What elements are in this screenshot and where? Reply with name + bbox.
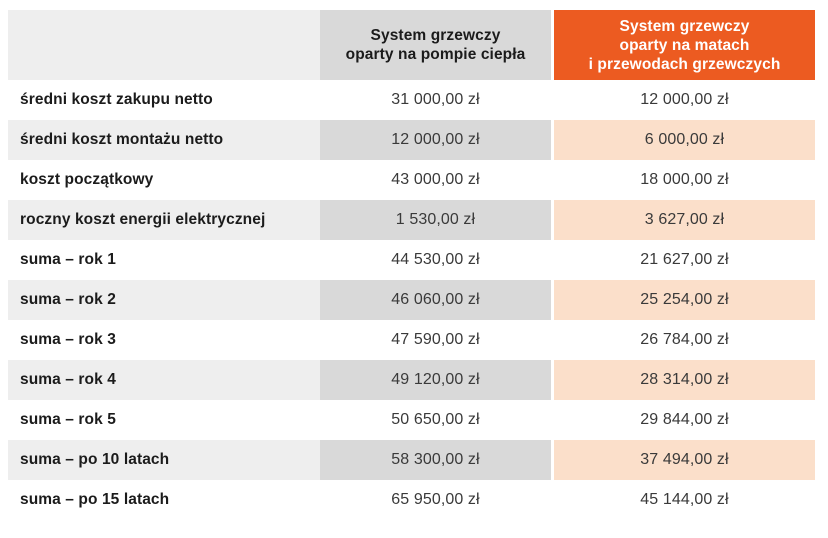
row-label-cell: suma – rok 1 xyxy=(0,240,320,280)
table-header: System grzewczy oparty na pompie ciepła … xyxy=(0,0,828,80)
header-heat-pump-line-1: System grzewczy xyxy=(346,26,526,45)
table-row: suma – rok 550 650,00 zł29 844,00 zł xyxy=(0,400,828,440)
row-label-cell: suma – rok 2 xyxy=(0,280,320,320)
heat-pump-value: 12 000,00 zł xyxy=(320,120,551,160)
heating-mats-value: 26 784,00 zł xyxy=(554,320,815,360)
row-label: suma – rok 2 xyxy=(8,280,320,320)
table-row: suma – rok 347 590,00 zł26 784,00 zł xyxy=(0,320,828,360)
heat-pump-value-cell: 46 060,00 zł xyxy=(320,280,554,320)
heating-mats-value: 3 627,00 zł xyxy=(554,200,815,240)
row-label: koszt początkowy xyxy=(8,160,320,200)
table-row: średni koszt zakupu netto31 000,00 zł12 … xyxy=(0,80,828,120)
row-label-cell: suma – po 15 latach xyxy=(0,480,320,520)
heat-pump-value: 1 530,00 zł xyxy=(320,200,551,240)
heating-mats-value-cell: 6 000,00 zł xyxy=(554,120,828,160)
row-label-cell: średni koszt zakupu netto xyxy=(0,80,320,120)
heat-pump-value-cell: 31 000,00 zł xyxy=(320,80,554,120)
row-label-cell: suma – rok 4 xyxy=(0,360,320,400)
heating-mats-value: 12 000,00 zł xyxy=(554,80,815,120)
heat-pump-value-cell: 47 590,00 zł xyxy=(320,320,554,360)
heating-mats-value-cell: 26 784,00 zł xyxy=(554,320,828,360)
table-row: średni koszt montażu netto12 000,00 zł6 … xyxy=(0,120,828,160)
heat-pump-value-cell: 1 530,00 zł xyxy=(320,200,554,240)
heat-pump-value: 65 950,00 zł xyxy=(320,480,551,520)
row-label: suma – rok 1 xyxy=(8,240,320,280)
table-body: średni koszt zakupu netto31 000,00 zł12 … xyxy=(0,80,828,520)
heat-pump-value-cell: 43 000,00 zł xyxy=(320,160,554,200)
heating-mats-value: 18 000,00 zł xyxy=(554,160,815,200)
table-row: roczny koszt energii elektrycznej1 530,0… xyxy=(0,200,828,240)
header-heating-mats-line-3: i przewodach grzewczych xyxy=(589,55,781,74)
table-row: suma – rok 449 120,00 zł28 314,00 zł xyxy=(0,360,828,400)
header-heating-mats-line-2: oparty na matach xyxy=(589,36,781,55)
row-label: suma – po 10 latach xyxy=(8,440,320,480)
heat-pump-value-cell: 49 120,00 zł xyxy=(320,360,554,400)
heating-mats-value: 6 000,00 zł xyxy=(554,120,815,160)
heat-pump-value-cell: 44 530,00 zł xyxy=(320,240,554,280)
row-label-cell: koszt początkowy xyxy=(0,160,320,200)
row-label: suma – rok 4 xyxy=(8,360,320,400)
heating-mats-value: 28 314,00 zł xyxy=(554,360,815,400)
header-heat-pump-band: System grzewczy oparty na pompie ciepła xyxy=(320,10,551,80)
heat-pump-value: 43 000,00 zł xyxy=(320,160,551,200)
heating-mats-value-cell: 29 844,00 zł xyxy=(554,400,828,440)
cost-comparison-table: System grzewczy oparty na pompie ciepła … xyxy=(0,0,828,520)
heating-mats-value-cell: 18 000,00 zł xyxy=(554,160,828,200)
heating-mats-value-cell: 45 144,00 zł xyxy=(554,480,828,520)
row-label: suma – rok 5 xyxy=(8,400,320,440)
table-row: suma – po 15 latach65 950,00 zł45 144,00… xyxy=(0,480,828,520)
header-heating-mats-line-1: System grzewczy xyxy=(589,17,781,36)
heating-mats-value: 21 627,00 zł xyxy=(554,240,815,280)
row-label: suma – rok 3 xyxy=(8,320,320,360)
header-cell-heat-pump: System grzewczy oparty na pompie ciepła xyxy=(320,0,554,80)
header-cell-blank xyxy=(0,0,320,80)
heat-pump-value-cell: 50 650,00 zł xyxy=(320,400,554,440)
heating-mats-value: 37 494,00 zł xyxy=(554,440,815,480)
heat-pump-value: 50 650,00 zł xyxy=(320,400,551,440)
heating-mats-value: 29 844,00 zł xyxy=(554,400,815,440)
heat-pump-value: 46 060,00 zł xyxy=(320,280,551,320)
heating-mats-value: 45 144,00 zł xyxy=(554,480,815,520)
table-row: suma – po 10 latach58 300,00 zł37 494,00… xyxy=(0,440,828,480)
table-row: suma – rok 144 530,00 zł21 627,00 zł xyxy=(0,240,828,280)
heat-pump-value: 31 000,00 zł xyxy=(320,80,551,120)
heating-mats-value-cell: 12 000,00 zł xyxy=(554,80,828,120)
row-label-cell: suma – rok 3 xyxy=(0,320,320,360)
table-row: koszt początkowy43 000,00 zł18 000,00 zł xyxy=(0,160,828,200)
heating-mats-value-cell: 28 314,00 zł xyxy=(554,360,828,400)
header-heat-pump-line-2: oparty na pompie ciepła xyxy=(346,45,526,64)
row-label-cell: suma – rok 5 xyxy=(0,400,320,440)
heat-pump-value: 44 530,00 zł xyxy=(320,240,551,280)
header-cell-heating-mats: System grzewczy oparty na matach i przew… xyxy=(554,0,828,80)
row-label: średni koszt montażu netto xyxy=(8,120,320,160)
header-heating-mats-band: System grzewczy oparty na matach i przew… xyxy=(554,10,815,80)
heating-mats-value-cell: 3 627,00 zł xyxy=(554,200,828,240)
heat-pump-value-cell: 58 300,00 zł xyxy=(320,440,554,480)
comparison-table-container: System grzewczy oparty na pompie ciepła … xyxy=(0,0,828,538)
row-label: średni koszt zakupu netto xyxy=(8,80,320,120)
table-row: suma – rok 246 060,00 zł25 254,00 zł xyxy=(0,280,828,320)
header-row: System grzewczy oparty na pompie ciepła … xyxy=(0,0,828,80)
row-label-cell: suma – po 10 latach xyxy=(0,440,320,480)
heat-pump-value-cell: 65 950,00 zł xyxy=(320,480,554,520)
row-label-cell: roczny koszt energii elektrycznej xyxy=(0,200,320,240)
heating-mats-value: 25 254,00 zł xyxy=(554,280,815,320)
header-blank-band xyxy=(8,10,320,80)
heating-mats-value-cell: 21 627,00 zł xyxy=(554,240,828,280)
heat-pump-value: 47 590,00 zł xyxy=(320,320,551,360)
heat-pump-value-cell: 12 000,00 zł xyxy=(320,120,554,160)
heat-pump-value: 58 300,00 zł xyxy=(320,440,551,480)
row-label: suma – po 15 latach xyxy=(8,480,320,520)
row-label: roczny koszt energii elektrycznej xyxy=(8,200,320,240)
row-label-cell: średni koszt montażu netto xyxy=(0,120,320,160)
heating-mats-value-cell: 25 254,00 zł xyxy=(554,280,828,320)
heat-pump-value: 49 120,00 zł xyxy=(320,360,551,400)
heating-mats-value-cell: 37 494,00 zł xyxy=(554,440,828,480)
